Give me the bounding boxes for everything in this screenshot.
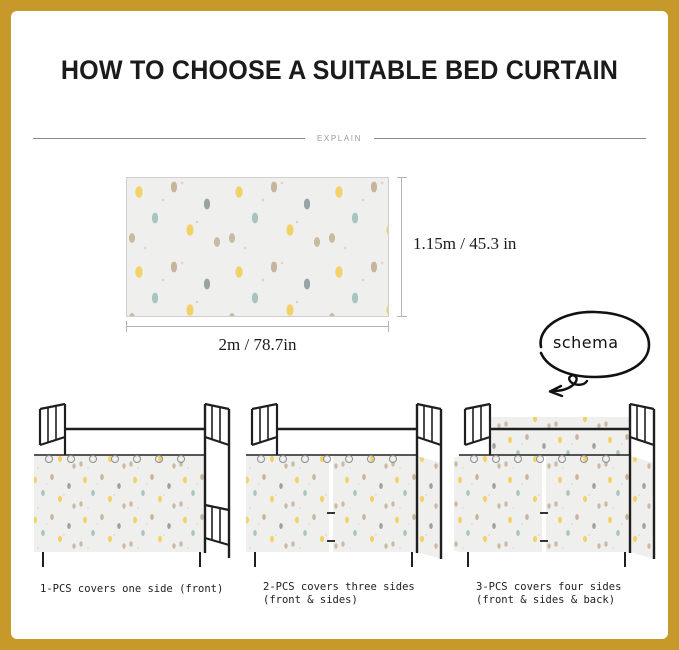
- bunk-bed-illustration: [29, 393, 239, 573]
- section-divider: EXPLAIN: [33, 131, 646, 145]
- schema-label: schema: [553, 333, 619, 352]
- bunk-bed-illustration: [241, 393, 451, 573]
- height-dimension-line: [397, 177, 407, 317]
- divider-rule-left: [33, 138, 305, 139]
- dimension-stem: [126, 326, 389, 327]
- divider-rule-right: [374, 138, 646, 139]
- dimension-cap-left: [126, 321, 127, 332]
- divider-label: EXPLAIN: [317, 134, 362, 143]
- page-title: HOW TO CHOOSE A SUITABLE BED CURTAIN: [34, 55, 645, 86]
- width-dimension-line: [126, 321, 389, 331]
- schema-bubble-icon: [523, 303, 663, 403]
- dimension-stem: [401, 177, 402, 317]
- bed-diagram-two-pcs: [241, 393, 451, 573]
- bed-diagram-three-pcs: [454, 393, 664, 573]
- width-dimension-label: 2m / 78.7in: [126, 335, 389, 355]
- dimension-cap-right: [388, 321, 389, 332]
- caption-two-pcs: 2-PCS covers three sides (front & sides): [263, 581, 415, 607]
- dimension-cap-bottom: [397, 316, 407, 317]
- curtain-fabric-swatch: [126, 177, 389, 317]
- bed-diagram-one-pcs: [29, 393, 239, 573]
- dimension-cap-top: [397, 177, 407, 178]
- bunk-bed-illustration: [454, 393, 664, 573]
- height-dimension-label: 1.15m / 45.3 in: [413, 234, 516, 254]
- schema-callout: schema: [523, 303, 663, 403]
- info-card: HOW TO CHOOSE A SUITABLE BED CURTAIN EXP…: [11, 11, 668, 639]
- caption-one-pcs: 1-PCS covers one side (front): [40, 583, 223, 596]
- caption-three-pcs: 3-PCS covers four sides (front & sides &…: [476, 581, 621, 607]
